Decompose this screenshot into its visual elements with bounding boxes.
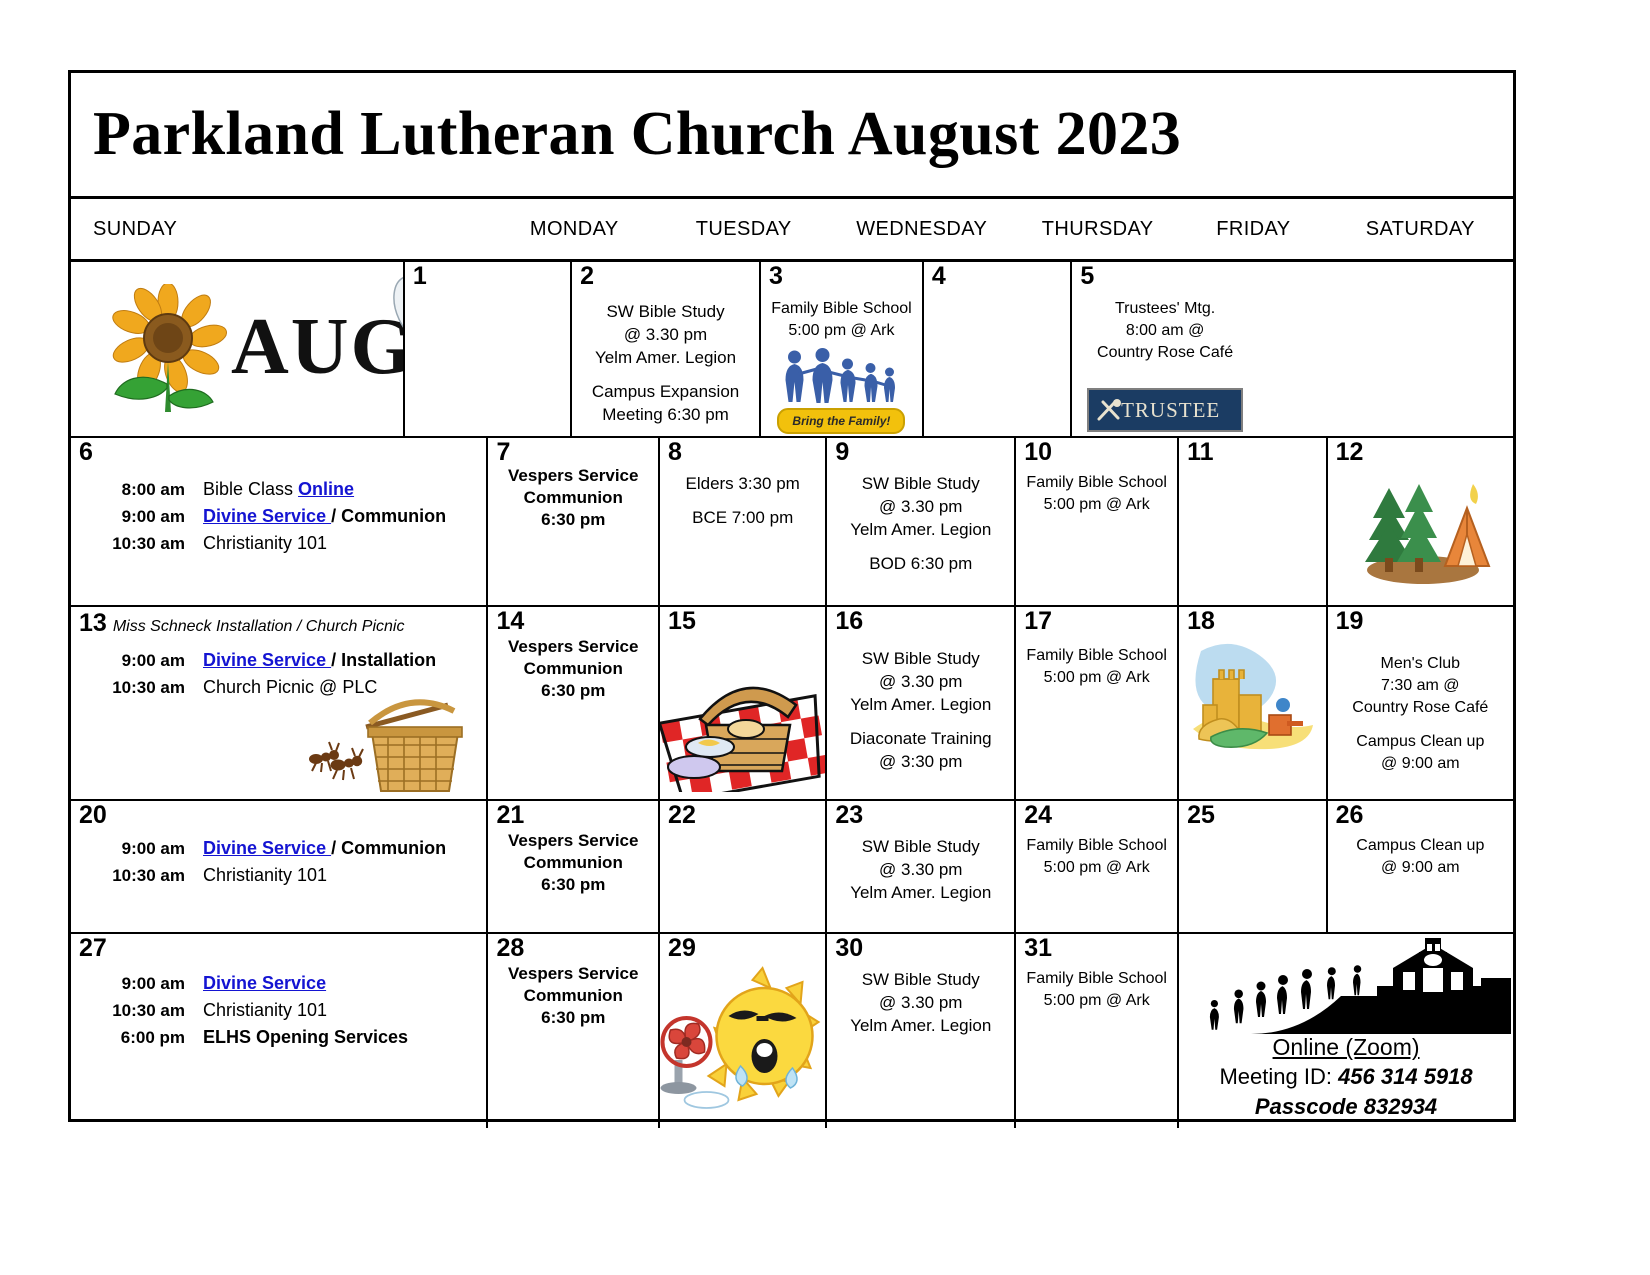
day-cell-21[interactable]: 21 Vespers Service Communion 6:30 pm bbox=[488, 801, 660, 932]
event-line: 6:30 pm bbox=[488, 679, 658, 702]
schedule-desc: Divine Service / Communion bbox=[203, 503, 446, 530]
event-line: Meeting 6:30 pm bbox=[572, 403, 759, 426]
schedule-time: 9:00 am bbox=[81, 503, 203, 530]
divine-service-link[interactable]: Divine Service bbox=[203, 650, 331, 670]
day-number: 21 bbox=[496, 803, 524, 828]
schedule-row: 10:30 am Christianity 101 bbox=[81, 997, 480, 1024]
day-number: 17 bbox=[1024, 609, 1052, 634]
day-cell-18[interactable]: 18 bbox=[1179, 607, 1328, 799]
week-row-3: 13Miss Schneck Installation / Church Pic… bbox=[71, 607, 1513, 801]
day-note: Miss Schneck Installation / Church Picni… bbox=[107, 618, 405, 635]
event-line: Campus Expansion bbox=[572, 380, 759, 403]
day-cell-8[interactable]: 8 Elders 3:30 pm BCE 7:00 pm bbox=[660, 438, 827, 605]
event-line: 5:00 pm @ Ark bbox=[1016, 667, 1177, 689]
event-line: Vespers Service bbox=[488, 635, 658, 658]
event-line: Campus Clean up bbox=[1328, 731, 1513, 753]
event-line: BOD 6:30 pm bbox=[827, 552, 1014, 575]
event-line: Vespers Service bbox=[488, 962, 658, 985]
sunday-schedule: 8:00 am Bible Class Online 9:00 am Divin… bbox=[81, 476, 480, 557]
event-line: @ 3.30 pm bbox=[827, 991, 1014, 1014]
day-cell-31[interactable]: 31 Family Bible School 5:00 pm @ Ark bbox=[1016, 934, 1179, 1128]
day-cell-16[interactable]: 16 SW Bible Study @ 3.30 pm Yelm Amer. L… bbox=[827, 607, 1016, 799]
day-number: 7 bbox=[496, 440, 510, 465]
schedule-desc: Christianity 101 bbox=[203, 997, 327, 1024]
day-number-text: 13 bbox=[79, 609, 107, 637]
day-number: 26 bbox=[1336, 803, 1364, 828]
day-cell-22[interactable]: 22 bbox=[660, 801, 827, 932]
schedule-time: 6:00 pm bbox=[81, 1024, 203, 1051]
event-line: Men's Club bbox=[1328, 653, 1513, 675]
camping-icon bbox=[1345, 462, 1495, 587]
event-line: Vespers Service bbox=[488, 464, 658, 487]
day-number: 4 bbox=[932, 264, 946, 289]
event-line: Trustees' Mtg. bbox=[1072, 298, 1257, 320]
day-cell-9[interactable]: 9 SW Bible Study @ 3.30 pm Yelm Amer. Le… bbox=[827, 438, 1016, 605]
day-cell-5[interactable]: 5 Trustees' Mtg. 8:00 am @ Country Rose … bbox=[1072, 262, 1257, 436]
calendar-title-row: Parkland Lutheran Church August 2023 bbox=[71, 73, 1513, 199]
event-line: Elders 3:30 pm bbox=[660, 472, 825, 495]
sunday-schedule: 9:00 am Divine Service 10:30 am Christia… bbox=[81, 970, 480, 1051]
day-number: 11 bbox=[1187, 440, 1213, 465]
event-line: Family Bible School bbox=[761, 298, 922, 320]
event-line: Communion bbox=[488, 657, 658, 680]
text-bold: / Communion bbox=[331, 506, 446, 526]
day-number: 18 bbox=[1187, 609, 1215, 634]
day-number: 28 bbox=[496, 936, 524, 961]
event-line: Family Bible School bbox=[1016, 472, 1177, 494]
family-badge: Bring the Family! bbox=[777, 408, 905, 434]
church-silhouette-icon bbox=[1181, 938, 1511, 1038]
text-bold: / Communion bbox=[331, 838, 446, 858]
day-number: 2 bbox=[580, 264, 594, 289]
day-number: 13Miss Schneck Installation / Church Pic… bbox=[79, 611, 404, 636]
schedule-desc: Bible Class Online bbox=[203, 476, 354, 503]
weekday-monday: MONDAY bbox=[488, 199, 660, 259]
weekday-friday: FRIDAY bbox=[1179, 199, 1328, 259]
day-number: 31 bbox=[1024, 936, 1052, 961]
schedule-row: 9:00 am Divine Service / Communion bbox=[81, 835, 480, 862]
event-line: 5:00 pm @ Ark bbox=[1016, 990, 1177, 1012]
divine-service-link[interactable]: Divine Service bbox=[203, 838, 331, 858]
weekday-thursday: THURSDAY bbox=[1016, 199, 1179, 259]
day-cell-26[interactable]: 26 Campus Clean up @ 9:00 am bbox=[1328, 801, 1513, 932]
schedule-row: 10:30 am Christianity 101 bbox=[81, 530, 480, 557]
schedule-desc: Divine Service bbox=[203, 970, 326, 997]
week-row-4: 20 9:00 am Divine Service / Communion 10… bbox=[71, 801, 1513, 934]
event-line: 6:30 pm bbox=[488, 508, 658, 531]
trustee-badge: TRUSTEE bbox=[1087, 388, 1243, 432]
meeting-id-value: 456 314 5918 bbox=[1338, 1064, 1473, 1089]
event-line: Country Rose Café bbox=[1328, 697, 1513, 719]
week-row-1: AUGUST bbox=[71, 262, 1513, 438]
weekday-wednesday: WEDNESDAY bbox=[827, 199, 1016, 259]
day-cell-10[interactable]: 10 Family Bible School 5:00 pm @ Ark bbox=[1016, 438, 1179, 605]
event-line: Family Bible School bbox=[1016, 968, 1177, 990]
event-line: 5:00 pm @ Ark bbox=[761, 320, 922, 342]
day-number: 6 bbox=[79, 440, 93, 465]
day-number: 5 bbox=[1080, 264, 1094, 289]
event-line: SW Bible Study bbox=[827, 472, 1014, 495]
day-cell-14[interactable]: 14 Vespers Service Communion 6:30 pm bbox=[488, 607, 660, 799]
day-cell-3[interactable]: 3 Family Bible School 5:00 pm @ Ark Brin… bbox=[761, 262, 924, 436]
day-cell-24[interactable]: 24 Family Bible School 5:00 pm @ Ark bbox=[1016, 801, 1179, 932]
family-icon bbox=[779, 344, 904, 406]
event-line: 5:00 pm @ Ark bbox=[1016, 857, 1177, 879]
day-cell-4[interactable]: 4 bbox=[924, 262, 1073, 436]
day-number: 14 bbox=[496, 609, 524, 634]
event-line: 8:00 am @ bbox=[1072, 320, 1257, 342]
sandcastle-icon bbox=[1183, 633, 1321, 758]
schedule-desc: Divine Service / Communion bbox=[203, 835, 446, 862]
day-number: 24 bbox=[1024, 803, 1052, 828]
event-line: Yelm Amer. Legion bbox=[827, 518, 1014, 541]
day-cell-17[interactable]: 17 Family Bible School 5:00 pm @ Ark bbox=[1016, 607, 1179, 799]
online-link[interactable]: Online bbox=[298, 479, 354, 499]
schedule-time: 10:30 am bbox=[81, 997, 203, 1024]
zoom-info-block: Online (Zoom) Meeting ID: 456 314 5918 P… bbox=[1179, 1032, 1513, 1122]
schedule-row: 9:00 am Divine Service / Communion bbox=[81, 503, 480, 530]
zoom-meeting-id-row: Meeting ID: 456 314 5918 bbox=[1179, 1062, 1513, 1092]
day-cell-30[interactable]: 30 SW Bible Study @ 3.30 pm Yelm Amer. L… bbox=[827, 934, 1016, 1128]
sunday-schedule: 9:00 am Divine Service / Communion 10:30… bbox=[81, 835, 480, 889]
event-line: @ 3.30 pm bbox=[827, 858, 1014, 881]
day-number: 20 bbox=[79, 803, 107, 828]
day-cell-23[interactable]: 23 SW Bible Study @ 3.30 pm Yelm Amer. L… bbox=[827, 801, 1016, 932]
zoom-passcode: Passcode 832934 bbox=[1179, 1092, 1513, 1122]
day-cell-27[interactable]: 27 9:00 am Divine Service 10:30 am Chris… bbox=[71, 934, 488, 1128]
week-row-5: 27 9:00 am Divine Service 10:30 am Chris… bbox=[71, 934, 1513, 1128]
picnic-basket-ants-icon bbox=[298, 687, 478, 797]
schedule-row: 6:00 pm ELHS Opening Services bbox=[81, 1024, 480, 1051]
day-number: 16 bbox=[835, 609, 863, 634]
day-number: 25 bbox=[1187, 803, 1215, 828]
event-line: Yelm Amer. Legion bbox=[827, 1014, 1014, 1037]
text-plain: Bible Class bbox=[203, 479, 298, 499]
hammer-wrench-icon bbox=[1095, 396, 1123, 424]
meeting-id-label: Meeting ID: bbox=[1219, 1064, 1338, 1089]
day-cell-29[interactable]: 29 bbox=[660, 934, 827, 1128]
day-number: 19 bbox=[1336, 609, 1364, 634]
sunflower-icon bbox=[101, 284, 236, 414]
event-line: Country Rose Café bbox=[1072, 342, 1257, 364]
event-line: Yelm Amer. Legion bbox=[572, 346, 759, 369]
event-line: SW Bible Study bbox=[827, 968, 1014, 991]
schedule-time: 9:00 am bbox=[81, 647, 203, 674]
divine-service-link[interactable]: Divine Service bbox=[203, 506, 331, 526]
weekday-tuesday: TUESDAY bbox=[660, 199, 827, 259]
event-line: 6:30 pm bbox=[488, 873, 658, 896]
schedule-time: 10:30 am bbox=[81, 674, 203, 701]
event-line: @ 9:00 am bbox=[1328, 857, 1513, 879]
day-number: 9 bbox=[835, 440, 849, 465]
event-line: 7:30 am @ bbox=[1328, 675, 1513, 697]
schedule-desc: ELHS Opening Services bbox=[203, 1024, 408, 1051]
day-cell-13[interactable]: 13Miss Schneck Installation / Church Pic… bbox=[71, 607, 488, 799]
event-line: Yelm Amer. Legion bbox=[827, 693, 1014, 716]
event-line: Vespers Service bbox=[488, 829, 658, 852]
page-title: Parkland Lutheran Church August 2023 bbox=[71, 99, 1181, 170]
event-line: 6:30 pm bbox=[488, 1006, 658, 1029]
day-cell-6[interactable]: 6 8:00 am Bible Class Online 9:00 am Div… bbox=[71, 438, 488, 605]
schedule-row: 10:30 am Christianity 101 bbox=[81, 862, 480, 889]
day-cell-2[interactable]: 2 SW Bible Study @ 3.30 pm Yelm Amer. Le… bbox=[572, 262, 761, 436]
weekday-saturday: SATURDAY bbox=[1328, 199, 1513, 259]
event-line: BCE 7:00 pm bbox=[660, 506, 825, 529]
schedule-desc: Divine Service / Installation bbox=[203, 647, 436, 674]
picnic-basket-icon bbox=[660, 647, 827, 792]
schedule-desc: Christianity 101 bbox=[203, 530, 327, 557]
day-cell-12[interactable]: 12 bbox=[1328, 438, 1513, 605]
schedule-row: 9:00 am Divine Service bbox=[81, 970, 480, 997]
event-line: SW Bible Study bbox=[827, 647, 1014, 670]
day-number: 3 bbox=[769, 264, 783, 289]
event-line: SW Bible Study bbox=[827, 835, 1014, 858]
day-cell-20[interactable]: 20 9:00 am Divine Service / Communion 10… bbox=[71, 801, 488, 932]
text-bold: / Installation bbox=[331, 650, 436, 670]
day-cell-7[interactable]: 7 Vespers Service Communion 6:30 pm bbox=[488, 438, 660, 605]
schedule-desc: Christianity 101 bbox=[203, 862, 327, 889]
calendar-page: Parkland Lutheran Church August 2023 SUN… bbox=[0, 0, 1650, 1275]
event-line: 5:00 pm @ Ark bbox=[1016, 494, 1177, 516]
zoom-heading: Online (Zoom) bbox=[1179, 1032, 1513, 1062]
event-line: @ 3.30 pm bbox=[827, 495, 1014, 518]
day-number: 30 bbox=[835, 936, 863, 961]
schedule-time: 9:00 am bbox=[81, 970, 203, 997]
schedule-time: 9:00 am bbox=[81, 835, 203, 862]
august-banner-cell: AUGUST bbox=[71, 262, 405, 436]
weekday-sunday: SUNDAY bbox=[71, 199, 488, 259]
schedule-row: 9:00 am Divine Service / Installation bbox=[81, 647, 480, 674]
day-cell-1[interactable]: 1 bbox=[405, 262, 572, 436]
day-cell-11[interactable]: 11 bbox=[1179, 438, 1328, 605]
event-line: @ 9:00 am bbox=[1328, 753, 1513, 775]
day-cell-28[interactable]: 28 Vespers Service Communion 6:30 pm bbox=[488, 934, 660, 1128]
schedule-time: 10:30 am bbox=[81, 862, 203, 889]
day-cell-25[interactable]: 25 bbox=[1179, 801, 1328, 932]
day-number: 23 bbox=[835, 803, 863, 828]
bee-icon bbox=[371, 272, 405, 422]
week-row-2: 6 8:00 am Bible Class Online 9:00 am Div… bbox=[71, 438, 1513, 607]
day-number: 27 bbox=[79, 936, 107, 961]
event-line: Campus Clean up bbox=[1328, 835, 1513, 857]
day-number: 1 bbox=[413, 264, 427, 289]
event-line: @ 3.30 pm bbox=[572, 323, 759, 346]
day-number: 8 bbox=[668, 440, 682, 465]
weekday-header-row: SUNDAY MONDAY TUESDAY WEDNESDAY THURSDAY… bbox=[71, 199, 1513, 262]
schedule-time: 10:30 am bbox=[81, 530, 203, 557]
event-line: Yelm Amer. Legion bbox=[827, 881, 1014, 904]
event-line: Communion bbox=[488, 486, 658, 509]
zoom-info-cell: Online (Zoom) Meeting ID: 456 314 5918 P… bbox=[1179, 934, 1513, 1128]
calendar-table: Parkland Lutheran Church August 2023 SUN… bbox=[68, 70, 1516, 1122]
event-line: @ 3:30 pm bbox=[827, 750, 1014, 773]
day-cell-15[interactable]: 15 bbox=[660, 607, 827, 799]
schedule-row: 8:00 am Bible Class Online bbox=[81, 476, 480, 503]
event-line: Family Bible School bbox=[1016, 645, 1177, 667]
divine-service-link[interactable]: Divine Service bbox=[203, 973, 326, 993]
event-line: Communion bbox=[488, 851, 658, 874]
event-line: Diaconate Training bbox=[827, 727, 1014, 750]
event-line: Family Bible School bbox=[1016, 835, 1177, 857]
event-line: @ 3.30 pm bbox=[827, 670, 1014, 693]
schedule-time: 8:00 am bbox=[81, 476, 203, 503]
event-line: Communion bbox=[488, 984, 658, 1007]
day-cell-19[interactable]: 19 Men's Club 7:30 am @ Country Rose Caf… bbox=[1328, 607, 1513, 799]
day-number: 22 bbox=[668, 803, 696, 828]
day-number: 15 bbox=[668, 609, 696, 634]
sun-fan-icon bbox=[660, 950, 825, 1110]
event-line: SW Bible Study bbox=[572, 300, 759, 323]
day-number: 10 bbox=[1024, 440, 1052, 465]
